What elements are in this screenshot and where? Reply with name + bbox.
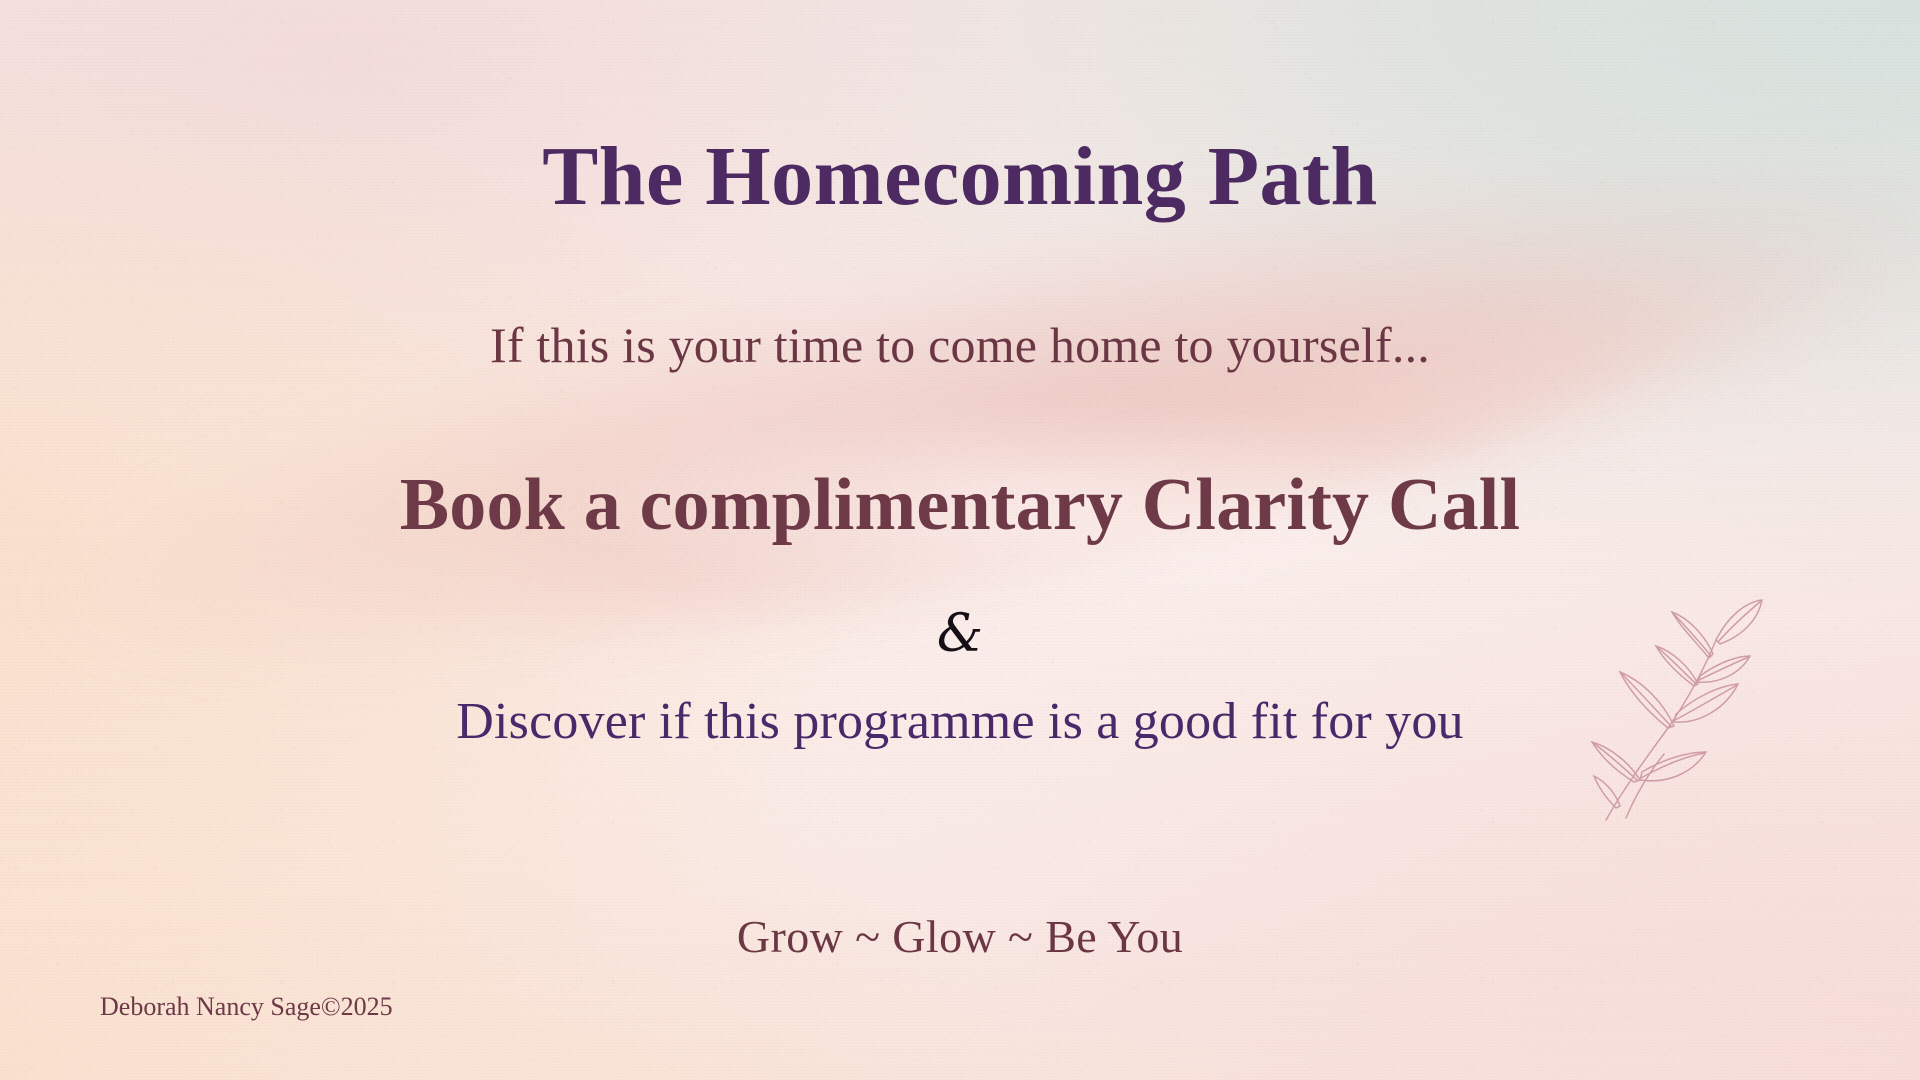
motto-text: Grow ~ Glow ~ Be You	[0, 910, 1920, 963]
ampersand-ornament: &	[0, 604, 1920, 664]
headline-cta: Book a complimentary Clarity Call	[0, 463, 1920, 548]
subtitle-text: If this is your time to come home to you…	[0, 316, 1920, 374]
slide-content: The Homecoming Path If this is your time…	[0, 0, 1920, 1080]
slide-canvas: The Homecoming Path If this is your time…	[0, 0, 1920, 1080]
page-title: The Homecoming Path	[0, 128, 1920, 225]
good-fit-text: Discover if this programme is a good fit…	[0, 692, 1920, 751]
copyright-credit: Deborah Nancy Sage©2025	[100, 992, 393, 1022]
